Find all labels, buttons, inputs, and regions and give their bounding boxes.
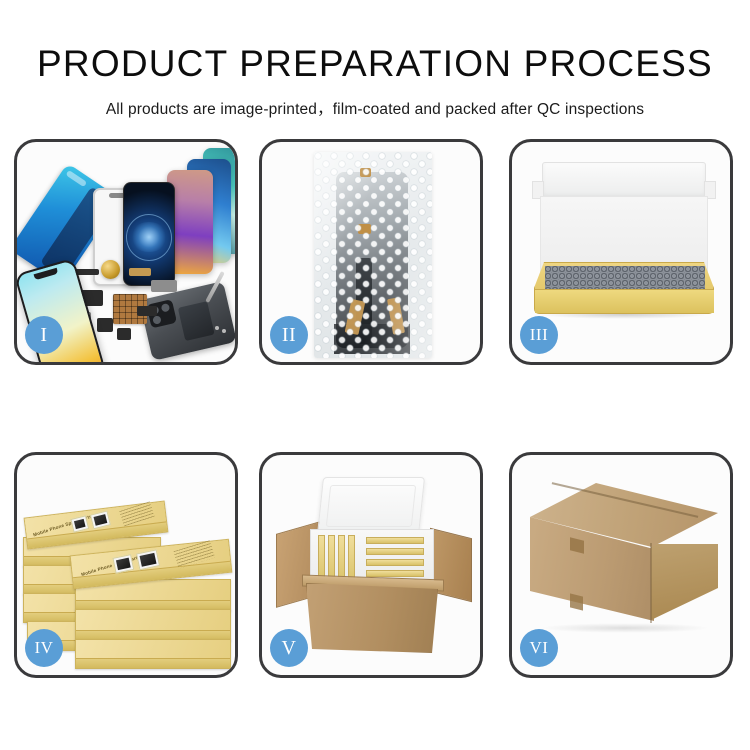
flex-cable-c (97, 318, 113, 332)
step-badge-4: IV (25, 629, 63, 667)
carton-corner-edge (650, 543, 652, 623)
process-step-3: III (509, 139, 733, 365)
step-badge-2: II (270, 316, 308, 354)
box-tray (534, 262, 714, 314)
foam-lid (317, 477, 425, 535)
step-badge-1: I (25, 316, 63, 354)
product-preparation-infographic: PRODUCT PREPARATION PROCESS All products… (0, 0, 750, 750)
box-lid (542, 162, 706, 198)
yellow-box (366, 537, 424, 544)
carton-with-foam (276, 477, 472, 653)
gold-contact-part (129, 268, 151, 276)
process-step-grid: I II (0, 0, 750, 750)
stacked-box (75, 609, 231, 641)
screws (215, 326, 227, 334)
sealed-carton (530, 483, 718, 645)
step-badge-3: III (520, 316, 558, 354)
bubble-wrap-bag (314, 152, 432, 358)
metal-bracket-part (151, 280, 177, 292)
process-step-4: Mobile Phone Spare Parts Mobile Phone Sp… (14, 452, 238, 678)
tray-front (535, 289, 715, 313)
notch (34, 268, 58, 280)
drop-shadow (540, 623, 710, 633)
flex-cable-e (137, 306, 157, 316)
stacked-box (75, 639, 231, 669)
process-step-5: V (259, 452, 483, 678)
carton-right-face (651, 544, 718, 622)
yellow-box (366, 559, 424, 566)
process-step-1: I (14, 139, 238, 365)
process-step-2: II (259, 139, 483, 365)
carton-front-panel (306, 583, 438, 653)
process-step-6: VI (509, 452, 733, 678)
gold-coil-part (101, 260, 120, 279)
plastic-sheen (314, 152, 432, 358)
flex-cable-d (117, 328, 131, 340)
step-badge-6: VI (520, 629, 558, 667)
open-inner-box (530, 162, 718, 324)
yellow-box (366, 570, 424, 577)
tape-patch-bottom (570, 593, 583, 610)
step-badge-5: V (270, 629, 308, 667)
tweezers-tool (205, 271, 224, 303)
yellow-box (366, 548, 424, 555)
